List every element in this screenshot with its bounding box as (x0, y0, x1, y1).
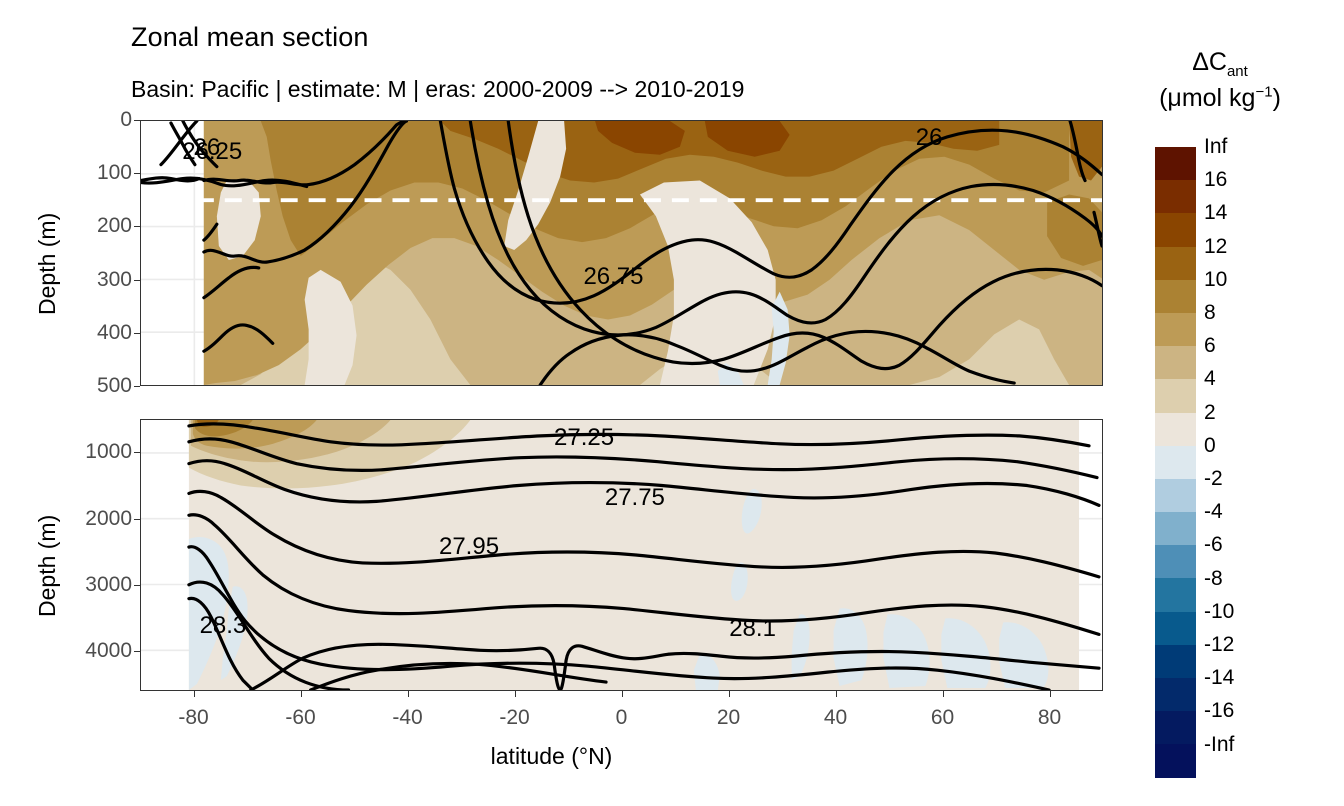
x-tick-label: -20 (499, 706, 529, 730)
colorbar-swatch[interactable] (1155, 346, 1196, 379)
x-tick-label: -40 (392, 706, 422, 730)
y-tick-label: 1000 (85, 440, 132, 464)
page-title: Zonal mean section (131, 22, 368, 53)
colorbar-swatch[interactable] (1155, 645, 1196, 678)
y-tick-label: 4000 (85, 639, 132, 663)
x-tick-label: 40 (824, 706, 847, 730)
colorbar-tick-label: 12 (1204, 235, 1227, 259)
colorbar-swatch[interactable] (1155, 413, 1196, 446)
colorbar-tick-label: 14 (1204, 201, 1227, 225)
legend: ΔCant (μmol kg−1) (1130, 46, 1340, 116)
colorbar-tick-label: 4 (1204, 367, 1216, 391)
colorbar-swatch[interactable] (1155, 479, 1196, 512)
colorbar-tick-label: -12 (1204, 633, 1234, 657)
y-tick-mark (134, 651, 140, 652)
colorbar-swatch[interactable] (1155, 711, 1196, 744)
colorbar-swatch[interactable] (1155, 247, 1196, 280)
legend-title-main: ΔC (1192, 48, 1227, 76)
colorbar-swatch[interactable] (1155, 313, 1196, 346)
colorbar-tick-label: 6 (1204, 334, 1216, 358)
x-tick-mark (943, 691, 944, 697)
colorbar-swatch[interactable] (1155, 446, 1196, 479)
colorbar-tick-label: 10 (1204, 268, 1227, 292)
colorbar-tick-label: -2 (1204, 467, 1223, 491)
colorbar-swatch[interactable] (1155, 578, 1196, 611)
colorbar-swatch[interactable] (1155, 512, 1196, 545)
x-tick-mark (1050, 691, 1051, 697)
colorbar-tick-label: -Inf (1204, 733, 1234, 757)
colorbar-swatch[interactable] (1155, 213, 1196, 246)
colorbar-tick-label: -10 (1204, 600, 1234, 624)
x-tick-mark (622, 691, 623, 697)
x-tick-mark (408, 691, 409, 697)
colorbar-tick-label: -6 (1204, 533, 1223, 557)
colorbar-swatch[interactable] (1155, 545, 1196, 578)
x-tick-label: -80 (178, 706, 208, 730)
colorbar-tick-label: 16 (1204, 168, 1227, 192)
top-filled-contours (204, 121, 1102, 385)
colorbar-swatch[interactable] (1155, 147, 1196, 180)
legend-title: ΔCant (μmol kg−1) (1130, 46, 1310, 116)
bottom-depth-panel (140, 419, 1103, 691)
y-tick-mark (134, 333, 140, 334)
x-tick-mark (194, 691, 195, 697)
y-tick-mark (134, 519, 140, 520)
x-tick-mark (836, 691, 837, 697)
colorbar-tick-label: -8 (1204, 567, 1223, 591)
colorbar-tick-label: -4 (1204, 500, 1223, 524)
page-subtitle: Basin: Pacific | estimate: M | eras: 200… (131, 76, 744, 103)
top-y-axis-label: Depth (m) (34, 213, 61, 315)
colorbar-tick-label: -16 (1204, 699, 1234, 723)
top-depth-panel (140, 120, 1103, 386)
colorbar-tick-label: Inf (1204, 135, 1227, 159)
x-tick-label: -60 (285, 706, 315, 730)
y-tick-label: 3000 (85, 573, 132, 597)
x-tick-label: 60 (931, 706, 954, 730)
x-axis-label: latitude (°N) (0, 743, 1103, 770)
y-tick-mark (134, 585, 140, 586)
colorbar-swatch[interactable] (1155, 678, 1196, 711)
y-tick-label: 2000 (85, 507, 132, 531)
colorbar-swatch[interactable] (1155, 379, 1196, 412)
legend-units-exponent: −1 (1255, 84, 1272, 101)
legend-title-subscript: ant (1227, 63, 1248, 80)
legend-units-prefix: (μmol kg (1159, 84, 1255, 112)
x-tick-label: 0 (616, 706, 628, 730)
colorbar[interactable] (1155, 147, 1196, 778)
x-tick-label: 80 (1038, 706, 1061, 730)
y-tick-mark (134, 386, 140, 387)
colorbar-swatch[interactable] (1155, 612, 1196, 645)
colorbar-tick-label: 8 (1204, 301, 1216, 325)
figure-root: Zonal mean section Basin: Pacific | esti… (0, 0, 1344, 806)
y-tick-mark (134, 120, 140, 121)
x-tick-mark (515, 691, 516, 697)
colorbar-tick-label: 2 (1204, 401, 1216, 425)
x-tick-label: 20 (717, 706, 740, 730)
colorbar-tick-label: -14 (1204, 666, 1234, 690)
x-tick-mark (729, 691, 730, 697)
colorbar-swatch[interactable] (1155, 280, 1196, 313)
x-tick-mark (301, 691, 302, 697)
bottom-y-axis-label: Depth (m) (34, 515, 61, 617)
bottom-panel-plot (141, 420, 1102, 690)
legend-units-suffix: ) (1273, 84, 1281, 112)
y-tick-mark (134, 173, 140, 174)
y-tick-mark (134, 452, 140, 453)
y-tick-mark (134, 226, 140, 227)
colorbar-tick-label: 0 (1204, 434, 1216, 458)
top-panel-plot (141, 121, 1102, 385)
colorbar-swatch[interactable] (1155, 180, 1196, 213)
y-tick-mark (134, 280, 140, 281)
colorbar-swatch[interactable] (1155, 744, 1196, 777)
